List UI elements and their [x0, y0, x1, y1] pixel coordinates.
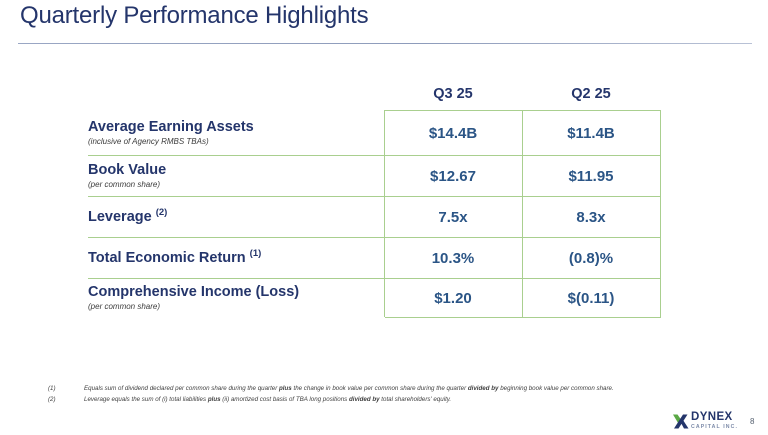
table-row: Leverage (2) 7.5x 8.3x: [88, 197, 660, 238]
footnote-2-marker: (2): [48, 395, 84, 406]
metric-name: Leverage (2): [88, 209, 384, 226]
footnote-2-text: Leverage equals the sum of (i) total lia…: [84, 395, 451, 406]
column-header-q3-25: Q3 25: [384, 78, 522, 111]
table-header-row: Q3 25 Q2 25: [88, 78, 660, 111]
metric-name: Book Value: [88, 162, 384, 179]
quarterly-metrics-table: Q3 25 Q2 25 Average Earning Assets (incl…: [88, 78, 661, 318]
value-q2-leverage: 8.3x: [522, 197, 660, 238]
row-label-total-economic-return: Total Economic Return (1): [88, 238, 384, 279]
value-q2-comprehensive-income-loss: $(0.11): [522, 279, 660, 318]
row-label-average-earning-assets: Average Earning Assets (inclusive of Age…: [88, 111, 384, 156]
row-label-leverage: Leverage (2): [88, 197, 384, 238]
value-q2-book-value: $11.95: [522, 156, 660, 197]
table-row: Total Economic Return (1) 10.3% (0.8)%: [88, 238, 660, 279]
column-header-metric: [88, 78, 384, 111]
value-q3-leverage: 7.5x: [384, 197, 522, 238]
footnote-marker: (2): [156, 207, 168, 218]
footnote-2: (2) Leverage equals the sum of (i) total…: [48, 395, 754, 406]
metric-sublabel: (per common share): [88, 302, 384, 312]
metric-name: Total Economic Return (1): [88, 250, 384, 267]
table-row: Average Earning Assets (inclusive of Age…: [88, 111, 660, 156]
metric-name: Comprehensive Income (Loss): [88, 284, 384, 301]
table-row: Comprehensive Income (Loss) (per common …: [88, 279, 660, 318]
dynex-x-mark-icon: [672, 413, 689, 430]
value-q3-average-earning-assets: $14.4B: [384, 111, 522, 156]
logo-tagline: CAPITAL INC.: [691, 425, 738, 430]
table-row: Book Value (per common share) $12.67 $11…: [88, 156, 660, 197]
column-header-q2-25: Q2 25: [522, 78, 660, 111]
metric-sublabel: (per common share): [88, 180, 384, 190]
footnotes: (1) Equals sum of dividend declared per …: [48, 384, 754, 406]
footnote-1-text: Equals sum of dividend declared per comm…: [84, 384, 614, 395]
page-title: Quarterly Performance Highlights: [20, 2, 368, 30]
row-label-book-value: Book Value (per common share): [88, 156, 384, 197]
metric-name: Average Earning Assets: [88, 119, 384, 136]
page-number: 8: [750, 417, 754, 426]
value-q2-average-earning-assets: $11.4B: [522, 111, 660, 156]
value-q3-total-economic-return: 10.3%: [384, 238, 522, 279]
footnote-1: (1) Equals sum of dividend declared per …: [48, 384, 754, 395]
value-q3-book-value: $12.67: [384, 156, 522, 197]
value-q2-total-economic-return: (0.8)%: [522, 238, 660, 279]
value-q3-comprehensive-income-loss: $1.20: [384, 279, 522, 318]
logo-wordmark: DYNEX CAPITAL INC.: [691, 412, 738, 430]
logo-name: DYNEX: [691, 412, 738, 424]
footnote-1-marker: (1): [48, 384, 84, 395]
row-label-comprehensive-income-loss: Comprehensive Income (Loss) (per common …: [88, 279, 384, 318]
dynex-capital-logo: DYNEX CAPITAL INC.: [672, 411, 742, 433]
footnote-marker: (1): [250, 248, 262, 259]
title-divider: [18, 43, 752, 44]
metric-sublabel: (inclusive of Agency RMBS TBAs): [88, 137, 384, 147]
